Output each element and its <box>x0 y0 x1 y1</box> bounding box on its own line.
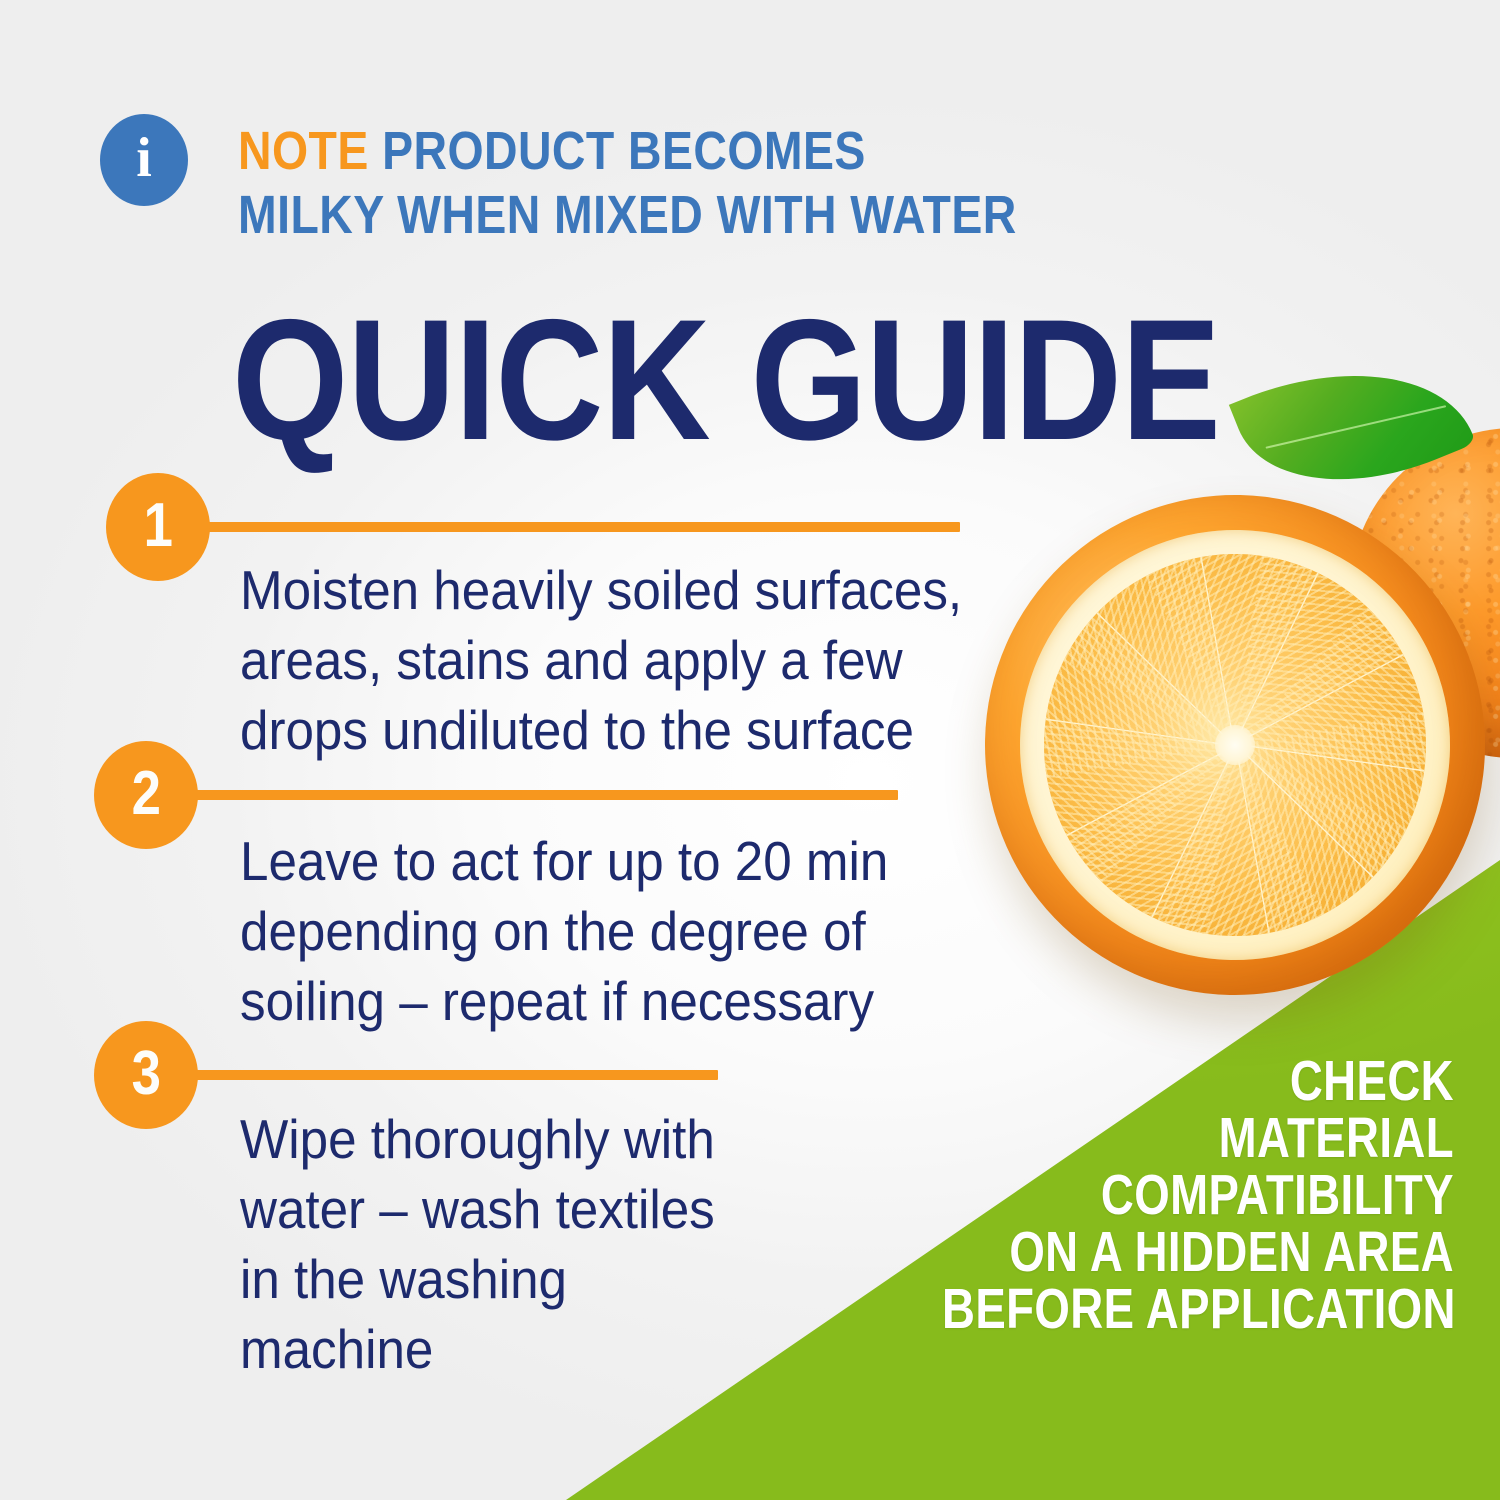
warning-line-3: COMPATIBILITY <box>942 1167 1454 1224</box>
step-number-3: 3 <box>131 1043 160 1105</box>
step-text-3: Wipe thoroughly with water – wash textil… <box>240 1105 761 1384</box>
material-compatibility-warning: CHECK MATERIAL COMPATIBILITY ON A HIDDEN… <box>942 1053 1454 1338</box>
step-text-1: Moisten heavily soiled surfaces, areas, … <box>240 556 1012 766</box>
step-rule-2 <box>178 790 898 800</box>
warning-line-2: MATERIAL <box>942 1110 1454 1167</box>
warning-line-4: ON A HIDDEN AREA <box>942 1224 1454 1281</box>
leaf-vein <box>1266 405 1447 449</box>
note-heading: NOTE PRODUCT BECOMES MILKY WHEN MIXED WI… <box>238 120 1107 247</box>
note-heading-line2: MILKY WHEN MIXED WITH WATER <box>238 185 1017 245</box>
warning-line-1: CHECK <box>942 1053 1454 1110</box>
step-badge-3: 3 <box>94 1021 198 1129</box>
step-number-2: 2 <box>131 763 160 825</box>
step-badge-1: 1 <box>106 473 210 581</box>
info-icon-glyph: i <box>136 130 152 186</box>
orange-rind <box>986 496 1484 994</box>
note-keyword: NOTE <box>238 121 369 181</box>
orange-pulp <box>1013 523 1456 966</box>
note-heading-line1: PRODUCT BECOMES <box>369 121 866 181</box>
warning-line-5: BEFORE APPLICATION <box>942 1281 1454 1338</box>
step-rule-3 <box>178 1070 718 1080</box>
step-badge-2: 2 <box>94 741 198 849</box>
step-text-2: Leave to act for up to 20 min depending … <box>240 827 947 1037</box>
info-icon: i <box>100 114 188 206</box>
step-rule-1 <box>190 522 960 532</box>
step-number-1: 1 <box>143 495 172 557</box>
page-title: QUICK GUIDE <box>232 294 1220 466</box>
quick-guide-infographic: i NOTE PRODUCT BECOMES MILKY WHEN MIXED … <box>0 0 1500 1500</box>
